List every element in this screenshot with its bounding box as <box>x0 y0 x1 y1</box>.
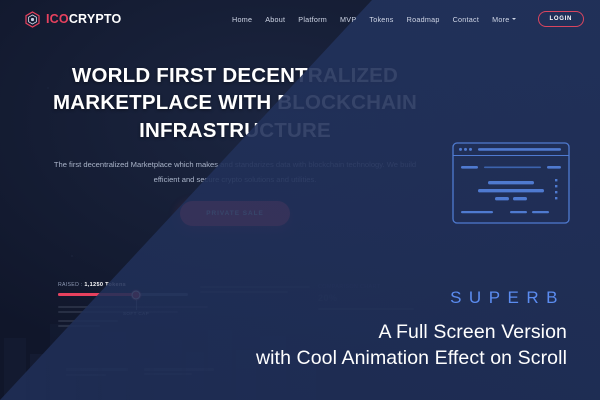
main-navigation: Home About Platform MVP Tokens Roadmap C… <box>232 11 584 27</box>
page-title: WORLD FIRST DECENTRALIZED MARKETPLACE WI… <box>0 62 470 144</box>
nav-item-about[interactable]: About <box>265 15 285 24</box>
promo-eyebrow: SUPERB <box>256 288 567 308</box>
ghost-content-left <box>58 306 208 330</box>
promo-line-2: with Cool Animation Effect on Scroll <box>256 345 567 372</box>
nav-item-more[interactable]: More <box>492 15 515 24</box>
brand-logo-ico: ICO <box>46 12 69 26</box>
chevron-down-icon <box>512 18 516 20</box>
token-raise-block: RAISED : 1,1250 Tokens SOFT CAP <box>58 282 188 296</box>
nav-item-contact[interactable]: Contact <box>453 15 480 24</box>
private-sale-button[interactable]: PRIVATE SALE <box>180 201 290 226</box>
nav-item-platform[interactable]: Platform <box>298 15 327 24</box>
cta-container: PRIVATE SALE <box>0 201 470 226</box>
progress-slider-fill <box>58 293 136 296</box>
nav-item-more-label: More <box>492 15 509 24</box>
hero-screenshot: COMPARISON CHART 20% WORLD FIRST DECENTR… <box>0 0 600 400</box>
brand-logo[interactable]: ICOCRYPTO <box>24 11 121 28</box>
hero-section: WORLD FIRST DECENTRALIZED MARKETPLACE WI… <box>0 62 470 226</box>
promo-caption: SUPERB A Full Screen Version with Cool A… <box>256 288 567 372</box>
raised-prefix: RAISED : <box>58 282 83 288</box>
raised-amount: 1,1250 Tokens <box>84 282 126 288</box>
raised-label: RAISED : 1,1250 Tokens <box>58 282 188 288</box>
nav-item-tokens[interactable]: Tokens <box>369 15 393 24</box>
login-button[interactable]: LOGIN <box>538 11 585 27</box>
browser-window-illustration <box>452 142 570 224</box>
soft-cap-tick <box>136 300 137 310</box>
site-header: ICOCRYPTO Home About Platform MVP Tokens… <box>0 0 600 38</box>
ghost-footer <box>66 368 286 379</box>
progress-slider-track[interactable]: SOFT CAP <box>58 293 188 296</box>
soft-cap-label: SOFT CAP <box>123 311 149 316</box>
hero-subtitle: The first decentralized Marketplace whic… <box>0 158 470 188</box>
progress-slider-handle[interactable] <box>132 290 141 299</box>
nav-item-home[interactable]: Home <box>232 15 252 24</box>
brand-logo-crypto: CRYPTO <box>69 12 122 26</box>
nav-item-roadmap[interactable]: Roadmap <box>407 15 440 24</box>
hexagon-logo-icon <box>24 11 41 28</box>
nav-item-mvp[interactable]: MVP <box>340 15 356 24</box>
brand-logo-text: ICOCRYPTO <box>46 12 121 26</box>
promo-line-1: A Full Screen Version <box>256 319 567 346</box>
